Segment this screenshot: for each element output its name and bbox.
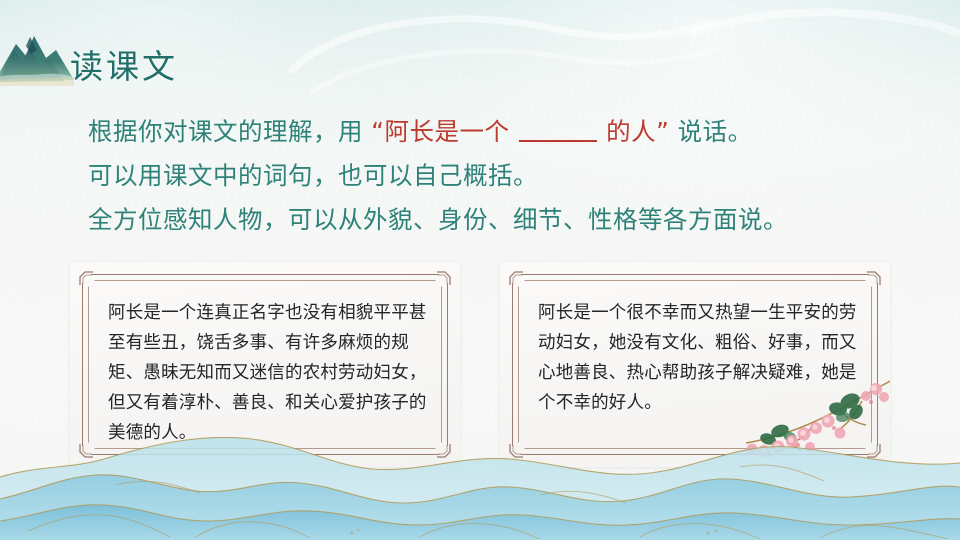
- corner-ornament-icon: [79, 271, 94, 286]
- prompt-line-1: 根据你对课文的理解，用 “阿长是一个 的人” 说话。: [88, 110, 918, 154]
- prompt-sentence-frame-open: “阿长是一个: [371, 117, 509, 146]
- prompt-line1-prefix: 根据你对课文的理解，用: [88, 117, 363, 146]
- prompt-line1-suffix: 说话。: [678, 117, 753, 146]
- mountain-range-icon: [0, 425, 960, 540]
- page-title: 读课文: [70, 50, 178, 83]
- corner-ornament-icon: [866, 271, 881, 286]
- slide-canvas: 读课文 根据你对课文的理解，用 “阿长是一个 的人” 说话。 可以用课文中的词句…: [0, 0, 960, 540]
- mountain-peak-icon: [0, 24, 74, 86]
- prompt-line-2: 可以用课文中的词句，也可以自己概括。: [88, 154, 918, 198]
- prompt-sentence-frame-close: 的人”: [606, 117, 669, 146]
- corner-ornament-icon: [509, 271, 524, 286]
- fill-in-blank: [519, 140, 597, 142]
- prompt-line-3: 全方位感知人物，可以从外貌、身份、细节、性格等各方面说。: [88, 198, 918, 242]
- slide-header: 读课文: [0, 18, 960, 90]
- corner-ornament-icon: [436, 271, 451, 286]
- prompt-block: 根据你对课文的理解，用 “阿长是一个 的人” 说话。 可以用课文中的词句，也可以…: [88, 110, 918, 242]
